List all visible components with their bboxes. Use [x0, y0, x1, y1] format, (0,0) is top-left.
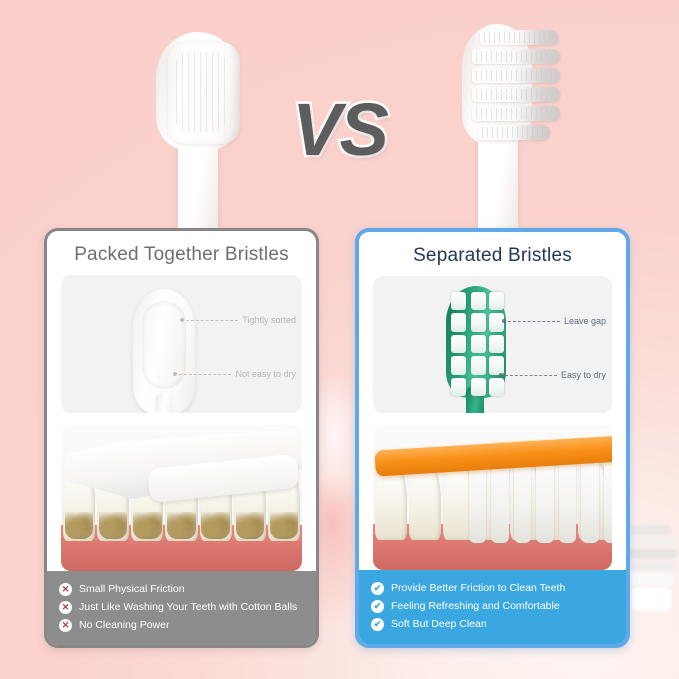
bristle-tuft: [471, 335, 486, 353]
annotation-label: Tightly sorted: [238, 315, 296, 325]
bristle-column: [451, 292, 466, 396]
brush-neck: [155, 393, 173, 413]
bristle-row: [472, 49, 560, 64]
bristle-tuft: [471, 313, 486, 331]
plaque-teeth-with-flat-brush-photo: [61, 425, 302, 571]
annotation-tightly-sorted: Tightly sorted: [180, 315, 296, 325]
right-panel-footer: ✔ Provide Better Friction to Clean Teeth…: [359, 570, 626, 644]
bristle-tuft: [471, 356, 486, 374]
bristle-tuft: [451, 378, 466, 396]
check-circle-icon: ✔: [371, 600, 384, 613]
bristle-tuft: [451, 292, 466, 310]
bristle-row: [472, 68, 560, 83]
packed-bristle-head-diagram: Tightly sorted Not easy to dry: [61, 275, 302, 413]
bristle-column: [489, 292, 504, 396]
list-item: ✔ Provide Better Friction to Clean Teeth: [371, 579, 614, 597]
list-item: ✔ Soft But Deep Clean: [371, 615, 614, 633]
annotation-dot-icon: [180, 318, 184, 322]
bullet-label: Provide Better Friction to Clean Teeth: [391, 582, 565, 594]
bristle-tuft: [471, 292, 486, 310]
annotation-leave-gap: Leave gap: [502, 316, 606, 326]
bristle-row: [480, 30, 558, 45]
annotation-dot-icon: [499, 373, 503, 377]
leader-line: [179, 374, 231, 375]
bristle-tuft: [471, 378, 486, 396]
bristle-tuft: [451, 313, 466, 331]
check-circle-icon: ✔: [371, 582, 384, 595]
leader-line: [505, 375, 557, 376]
annotation-dot-icon: [173, 372, 177, 376]
annotation-label: Leave gap: [560, 316, 606, 326]
separated-bristle-head-diagram: Leave gap Easy to dry: [373, 276, 612, 413]
list-item: ✕ Small Physical Friction: [59, 580, 304, 598]
bullet-label: No Cleaning Power: [79, 619, 169, 631]
bristle-column: [471, 292, 486, 396]
infographic-canvas: VS Packed Together Bristles Tightly sort…: [0, 0, 679, 679]
panel-separated-bristles: Separated Bristles: [355, 228, 630, 648]
left-panel-footer: ✕ Small Physical Friction ✕ Just Like Wa…: [47, 571, 316, 645]
bristle-tuft: [489, 335, 504, 353]
vs-badge: VS: [0, 93, 679, 167]
bristle-tuft: [451, 335, 466, 353]
panel-title-left: Packed Together Bristles: [47, 231, 316, 275]
panel-packed-together-bristles: Packed Together Bristles Tightly sorted …: [44, 228, 319, 648]
annotation-label: Not easy to dry: [231, 369, 296, 379]
annotation-easy-to-dry: Easy to dry: [499, 370, 606, 380]
cross-circle-icon: ✕: [59, 601, 72, 614]
orange-brush-head: [375, 437, 612, 493]
annotation-not-easy-to-dry: Not easy to dry: [173, 369, 296, 379]
annotation-dot-icon: [502, 319, 506, 323]
list-item: ✔ Feeling Refreshing and Comfortable: [371, 597, 614, 615]
list-item: ✕ No Cleaning Power: [59, 616, 304, 634]
bullet-label: Just Like Washing Your Teeth with Cotton…: [79, 601, 297, 613]
list-item: ✕ Just Like Washing Your Teeth with Cott…: [59, 598, 304, 616]
leader-line: [508, 321, 560, 322]
bullet-label: Feeling Refreshing and Comfortable: [391, 600, 560, 612]
bristle-tuft: [451, 356, 466, 374]
panel-title-right: Separated Bristles: [359, 232, 626, 276]
bullet-label: Small Physical Friction: [79, 583, 185, 595]
cross-circle-icon: ✕: [59, 583, 72, 596]
packed-head-illustration: [133, 289, 195, 413]
leader-line: [186, 320, 238, 321]
bristle-tuft: [489, 378, 504, 396]
green-brush-head-illustration: [439, 286, 513, 413]
bullet-label: Soft But Deep Clean: [391, 618, 487, 630]
cross-circle-icon: ✕: [59, 619, 72, 632]
clean-teeth-with-orange-brush-photo: [373, 425, 612, 570]
check-circle-icon: ✔: [371, 618, 384, 631]
bristle-tuft: [489, 292, 504, 310]
annotation-label: Easy to dry: [557, 370, 606, 380]
